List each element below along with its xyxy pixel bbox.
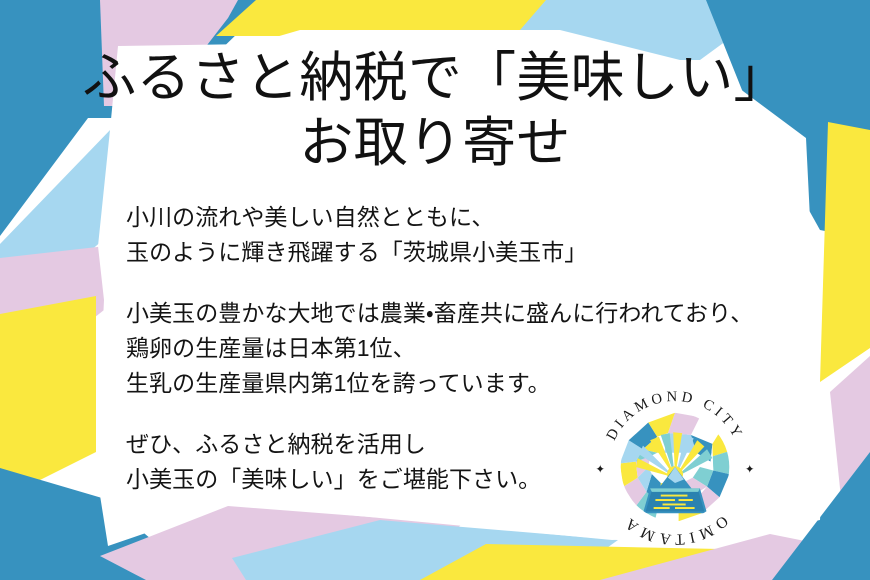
diamond-city-omitama-logo: DIAMOND CITY OMITAMA ✦ ✦ bbox=[586, 378, 764, 556]
paragraph-1: 小川の流れや美しい自然とともに、 玉のように輝き飛躍する「茨城県小美玉市」 bbox=[126, 200, 786, 270]
title-line-2: お取り寄せ bbox=[0, 111, 870, 176]
paragraph-1-line-2: 玉のように輝き飛躍する「茨城県小美玉市」 bbox=[126, 235, 786, 270]
paragraph-2-line-2: 鶏卵の生産量は日本第1位、 bbox=[126, 331, 786, 366]
omitama-promo-banner: ふるさと納税で「美味しい」 お取り寄せ 小川の流れや美しい自然とともに、 玉のよ… bbox=[0, 0, 870, 580]
title-line-1: ふるさと納税で「美味しい」 bbox=[0, 46, 870, 111]
paragraph-1-line-1: 小川の流れや美しい自然とともに、 bbox=[126, 200, 786, 235]
logo-star-left-icon: ✦ bbox=[595, 462, 605, 476]
paragraph-2-line-1: 小美玉の豊かな大地では農業・畜産共に盛んに行われており、 bbox=[126, 296, 786, 331]
logo-gem-facets bbox=[620, 413, 730, 522]
logo-star-right-icon: ✦ bbox=[745, 462, 755, 476]
diamond-city-omitama-icon: DIAMOND CITY OMITAMA ✦ ✦ bbox=[586, 378, 764, 556]
banner-title: ふるさと納税で「美味しい」 お取り寄せ bbox=[0, 46, 870, 176]
